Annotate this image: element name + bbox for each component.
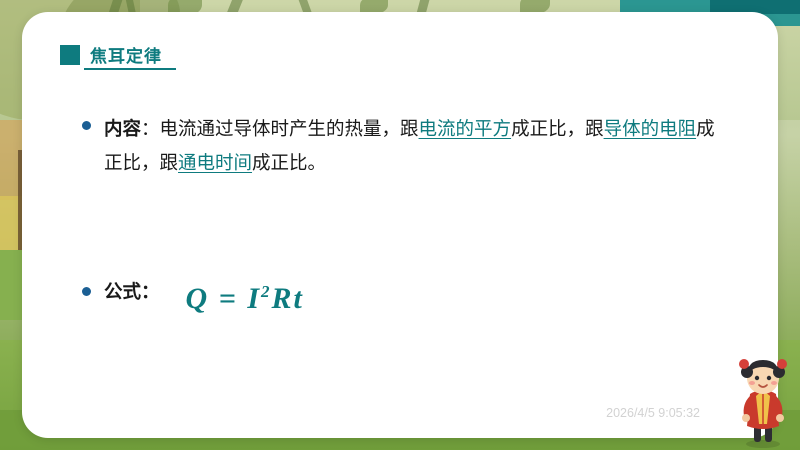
title-underline <box>84 68 176 70</box>
formula-expression: Q = I2Rt <box>186 278 304 313</box>
bullet-content-text: 内容：电流通过导体时产生的热量，跟电流的平方成正比，跟导体的电阻成正比，跟通电时… <box>104 112 732 180</box>
formula-equals: = <box>219 282 238 315</box>
bullet-content-part-5-highlight: 通电时间 <box>178 152 252 173</box>
content-card: 焦耳定律 内容：电流通过导体时产生的热量，跟电流的平方成正比，跟导体的电阻成正比… <box>22 12 778 438</box>
bullet-content-separator: ： <box>141 118 160 139</box>
bullet-item-content: 内容：电流通过导体时产生的热量，跟电流的平方成正比，跟导体的电阻成正比，跟通电时… <box>82 112 732 180</box>
bullet-content-part-3-highlight: 导体的电阻 <box>604 118 697 139</box>
formula-r: R <box>272 282 294 315</box>
bullet-item-formula: 公式： Q = I2Rt <box>82 278 304 313</box>
bullet-content-part-0: 电流通过导体时产生的热量，跟 <box>160 118 419 139</box>
slide-root: 焦耳定律 内容：电流通过导体时产生的热量，跟电流的平方成正比，跟导体的电阻成正比… <box>0 0 800 450</box>
timestamp: 2026/4/5 9:05:32 <box>606 406 700 420</box>
formula-label-text: 公式 <box>104 281 141 302</box>
formula-q: Q <box>186 282 210 315</box>
formula-label-separator: ： <box>141 281 160 302</box>
mascot-character-icon <box>734 356 792 448</box>
bullet-content-part-6: 成正比。 <box>252 152 326 173</box>
bullet-dot-icon <box>82 287 91 296</box>
bullet-dot-icon <box>82 121 91 130</box>
bullet-content-part-2: 成正比，跟 <box>511 118 604 139</box>
bullet-content-part-1-highlight: 电流的平方 <box>419 118 512 139</box>
bullet-content-label: 内容 <box>104 118 141 139</box>
page-title: 焦耳定律 <box>60 42 162 67</box>
formula-t: t <box>294 282 304 315</box>
formula-label: 公式： <box>104 278 160 306</box>
title-text: 焦耳定律 <box>90 42 162 67</box>
formula-exponent: 2 <box>261 282 272 301</box>
title-accent-bar <box>60 45 80 65</box>
formula-i: I <box>247 282 261 315</box>
